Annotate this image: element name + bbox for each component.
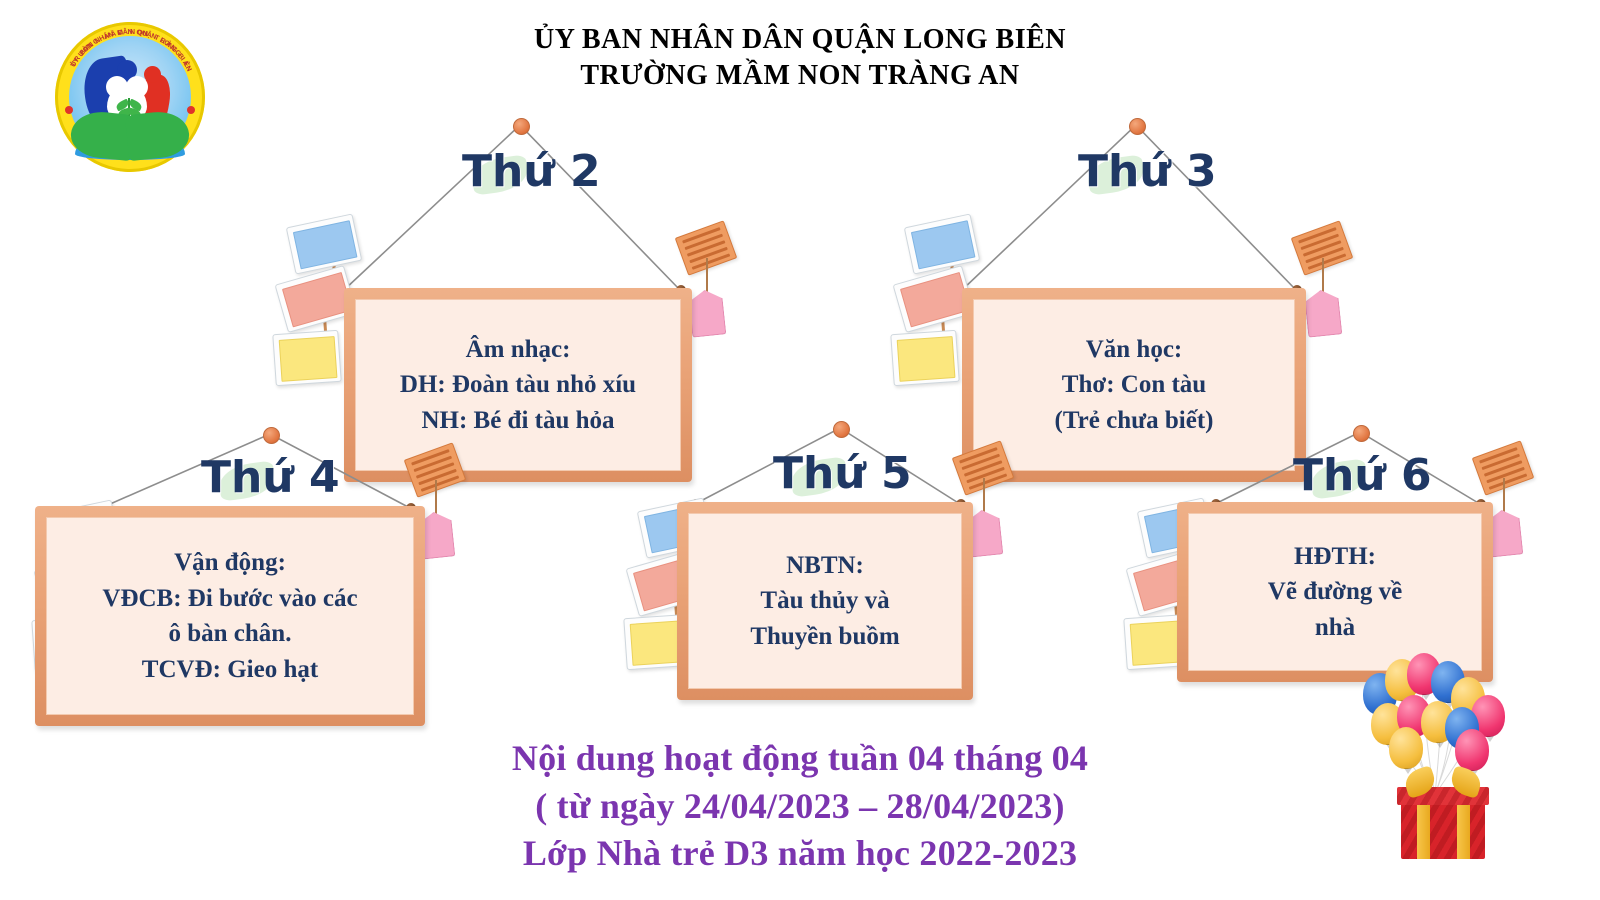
pin-icon xyxy=(263,427,280,444)
board-day-label: Thứ 4 xyxy=(201,456,340,500)
logo-hands xyxy=(71,112,189,160)
board-line: Vẽ đường về xyxy=(1268,574,1402,610)
card-yellow xyxy=(890,330,959,386)
board-frame: NBTN: Tàu thủy và Thuyền buồm xyxy=(677,502,973,700)
schedule-board-thursday[interactable]: Thứ 5 NBTN: Tàu thủy và Thuyền buồm xyxy=(615,412,1035,712)
board-content: Vận động: VĐCB: Đi bước vào các ô bàn ch… xyxy=(102,545,357,687)
page-title: ỦY BAN NHÂN DÂN QUẬN LONG BIÊN TRƯỜNG MẦ… xyxy=(0,22,1600,94)
schedule-board-tuesday[interactable]: Thứ 3 Văn học: Thơ: Con tàu (Trẻ chưa bi… xyxy=(898,108,1368,398)
pin-icon xyxy=(513,118,530,135)
tag-string xyxy=(983,478,985,514)
footer-line-3: Lớp Nhà trẻ D3 năm học 2022-2023 xyxy=(0,830,1600,878)
board-day-label: Thứ 3 xyxy=(1078,150,1217,194)
board-surface: NBTN: Tàu thủy và Thuyền buồm xyxy=(688,513,962,689)
logo-dot-right xyxy=(187,106,195,114)
board-line: nhà xyxy=(1268,610,1402,646)
board-content: NBTN: Tàu thủy và Thuyền buồm xyxy=(750,548,899,655)
board-day-label: Thứ 2 xyxy=(462,150,601,194)
board-line: Tàu thủy và xyxy=(750,583,899,619)
board-line: TCVĐ: Gieo hạt xyxy=(102,652,357,688)
tag-string xyxy=(435,480,437,516)
pin-icon xyxy=(1353,425,1370,442)
board-line: Thơ: Con tàu xyxy=(1055,367,1214,403)
board-line: ô bàn chân. xyxy=(102,616,357,652)
footer-line-1: Nội dung hoạt động tuần 04 tháng 04 xyxy=(0,735,1600,783)
board-content: HĐTH: Vẽ đường về nhà xyxy=(1268,539,1402,646)
schedule-board-wednesday[interactable]: Thứ 4 Vận động: VĐCB: Đi bước vào các ô … xyxy=(15,412,455,722)
board-line: Văn học: xyxy=(1055,332,1214,368)
tag-string xyxy=(1503,478,1505,514)
header-line-2: TRƯỜNG MẦM NON TRÀNG AN xyxy=(0,58,1600,94)
header-line-1: ỦY BAN NHÂN DÂN QUẬN LONG BIÊN xyxy=(0,22,1600,58)
logo-dot-left xyxy=(65,106,73,114)
board-day-label: Thứ 5 xyxy=(773,452,912,496)
board-surface: Vận động: VĐCB: Đi bước vào các ô bàn ch… xyxy=(46,517,414,715)
board-line: Thuyền buồm xyxy=(750,619,899,655)
board-line: VĐCB: Đi bước vào các xyxy=(102,581,357,617)
card-yellow xyxy=(272,330,341,386)
footer-caption: Nội dung hoạt động tuần 04 tháng 04 ( từ… xyxy=(0,735,1600,878)
board-line: DH: Đoàn tàu nhỏ xíu xyxy=(400,367,636,403)
schedule-board-monday[interactable]: Thứ 2 Âm nhạc: DH: Đoàn tàu nhỏ xíu NH: … xyxy=(280,108,750,398)
tag-string xyxy=(1322,258,1324,294)
board-surface: HĐTH: Vẽ đường về nhà xyxy=(1188,513,1482,671)
board-line: Âm nhạc: xyxy=(400,332,636,368)
board-line: NBTN: xyxy=(750,548,899,584)
board-line: Vận động: xyxy=(102,545,357,581)
tag-string xyxy=(706,258,708,294)
card-blue xyxy=(904,213,980,274)
board-line: HĐTH: xyxy=(1268,539,1402,575)
pin-icon xyxy=(833,421,850,438)
board-frame: Vận động: VĐCB: Đi bước vào các ô bàn ch… xyxy=(35,506,425,726)
board-day-label: Thứ 6 xyxy=(1293,454,1432,498)
footer-line-2: ( từ ngày 24/04/2023 – 28/04/2023) xyxy=(0,783,1600,831)
pin-icon xyxy=(1129,118,1146,135)
card-blue xyxy=(286,213,362,274)
